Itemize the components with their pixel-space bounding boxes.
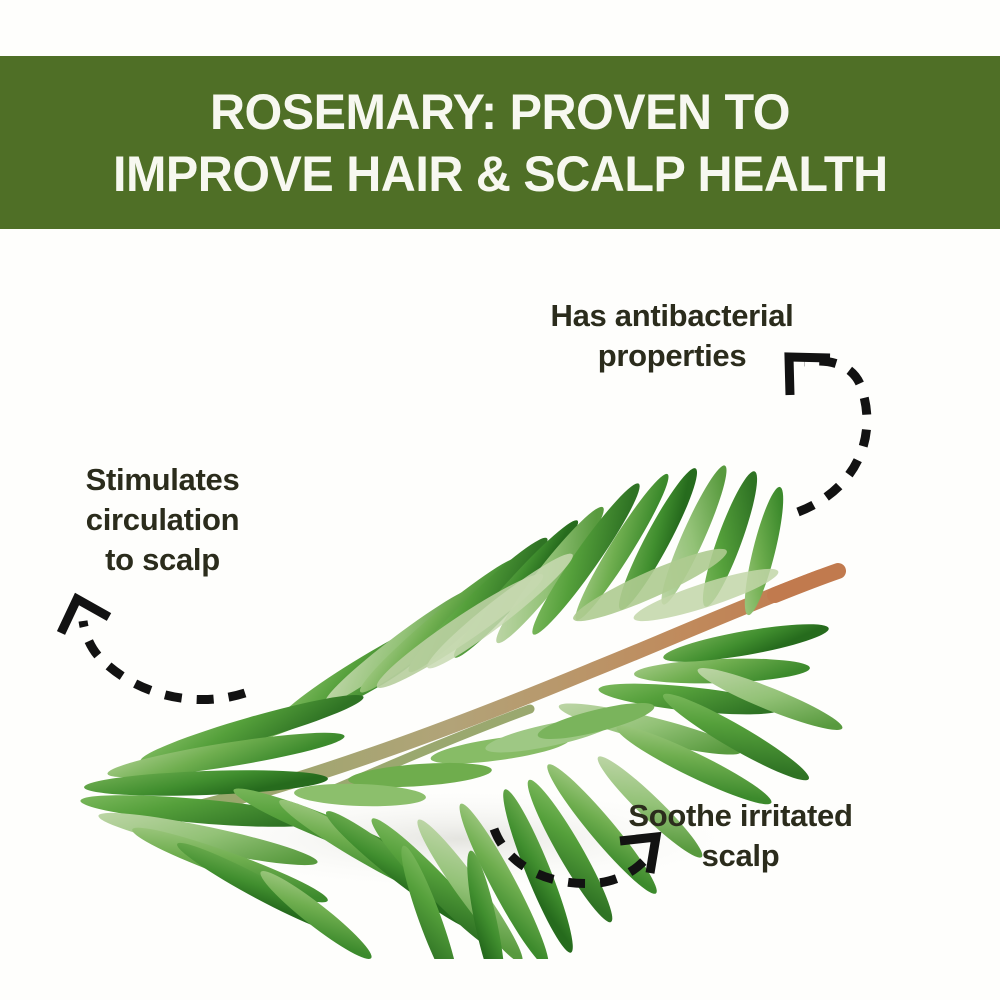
callout-soothe: Soothe irritated scalp (588, 796, 893, 876)
callout-circulation-line-1: Stimulates (50, 460, 275, 500)
callout-circulation-line-2: circulation (50, 500, 275, 540)
callout-antibacterial: Has antibacterial properties (487, 296, 857, 376)
callout-antibacterial-line-2: properties (487, 336, 857, 376)
page-title-line-2: IMPROVE HAIR & SCALP HEALTH (113, 143, 888, 205)
header-banner: ROSEMARY: PROVEN TO IMPROVE HAIR & SCALP… (0, 56, 1000, 229)
callout-antibacterial-line-1: Has antibacterial (487, 296, 857, 336)
rosemary-cut-stem-end (775, 571, 838, 595)
callout-circulation: Stimulates circulation to scalp (50, 460, 275, 580)
page-title-line-1: ROSEMARY: PROVEN TO (210, 81, 790, 143)
callout-circulation-line-3: to scalp (50, 540, 275, 580)
callout-soothe-line-2: scalp (588, 836, 893, 876)
callout-soothe-line-1: Soothe irritated (588, 796, 893, 836)
infographic-page: ROSEMARY: PROVEN TO IMPROVE HAIR & SCALP… (0, 0, 1000, 1000)
